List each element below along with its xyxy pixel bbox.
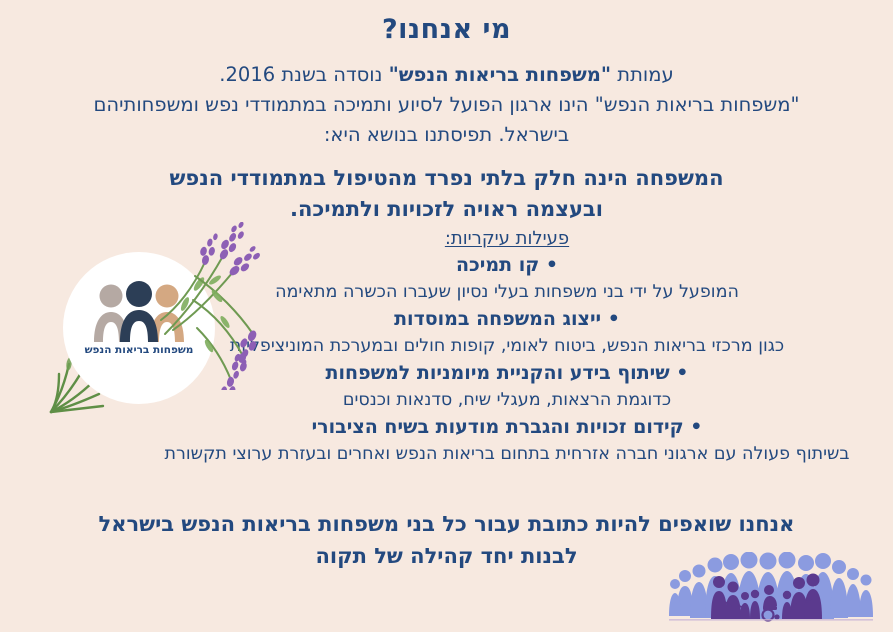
intro-line-2: "משפחות בריאות הנפש" הינו ארגון הפועל לס… <box>14 90 879 120</box>
page-title: מי אנחנו? <box>0 14 893 45</box>
activity-desc-knowledge-sharing: כדוגמת הרצאות, מעגלי שיח, סדנאות וכנסים <box>137 387 877 414</box>
activity-title-rights-advocacy: • קידום זכויות והגברת מודעות בשיח הציבור… <box>137 414 877 441</box>
activity-desc-rights-advocacy: בשיתוף פעולה עם ארגוני חברה אזרחית בתחום… <box>137 441 877 468</box>
crowd-silhouette-icon <box>663 552 889 630</box>
creed-line-1: המשפחה הינה חלק בלתי נפרד מהטיפול במתמוד… <box>14 163 879 194</box>
person-navy-icon <box>120 281 158 342</box>
creed-statement: המשפחה הינה חלק בלתי נפרד מהטיפול במתמוד… <box>14 163 879 225</box>
closing-line-1: אנחנו שואפים להיות כתובת עבור כל בני משפ… <box>14 508 879 540</box>
organization-logo: משפחות בריאות הנפש <box>63 252 215 404</box>
intro-line-1-suffix: נוסדה בשנת 2016. <box>219 63 388 86</box>
intro-line-3: בישראל. תפיסתנו בנושא היא: <box>14 120 879 150</box>
lavender-sprig-right-icon <box>191 260 291 390</box>
intro-paragraph: עמותת "משפחות בריאות הנפש" נוסדה בשנת 20… <box>14 60 879 150</box>
intro-line-1: עמותת "משפחות בריאות הנפש" נוסדה בשנת 20… <box>14 60 879 90</box>
intro-line-1-prefix: עמותת <box>611 63 674 86</box>
creed-line-2: ובעצמה ראויה לזכויות ולתמיכה. <box>14 194 879 225</box>
organization-name: "משפחות בריאות הנפש" <box>389 63 611 86</box>
poster-canvas: מי אנחנו? עמותת "משפחות בריאות הנפש" נוס… <box>0 0 893 632</box>
